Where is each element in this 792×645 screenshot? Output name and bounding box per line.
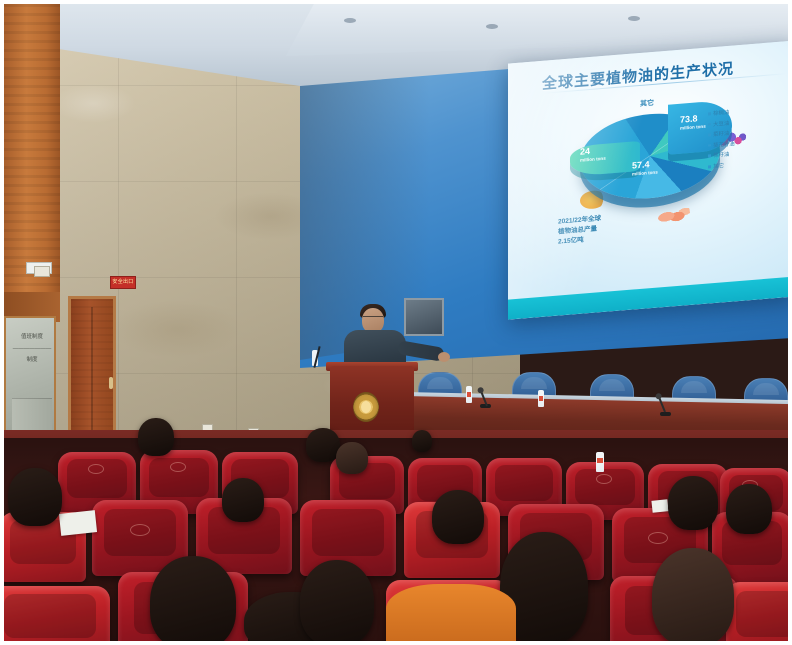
seat-number-emblem	[88, 464, 104, 474]
audience-head	[306, 428, 340, 462]
side-door	[68, 296, 116, 448]
audience-shoulder	[386, 584, 516, 645]
podium-emblem	[353, 392, 379, 422]
slide-legend: 棕榈油 大豆油 菜籽油 葵花籽油 棉籽油 其它	[708, 104, 780, 173]
seat-number-emblem	[648, 532, 668, 544]
legend-dot-icon	[708, 144, 711, 147]
screen-glare	[508, 40, 688, 319]
ceiling-light-icon	[628, 16, 640, 21]
audience-head	[8, 468, 62, 526]
handout-paper	[651, 499, 668, 513]
audience-head	[336, 442, 368, 474]
water-bottle	[466, 386, 472, 403]
speaker-hand	[438, 352, 450, 362]
audience-head	[412, 430, 432, 452]
legend-dot-icon	[708, 165, 711, 168]
water-bottle	[596, 452, 604, 472]
door-handle	[109, 377, 113, 389]
notice-board: 值班制度 ——————— 制度	[4, 316, 56, 444]
audience-head	[432, 490, 484, 544]
handout-paper	[59, 510, 97, 536]
microphone-base	[660, 412, 671, 416]
door-panel-line	[91, 307, 93, 443]
audience-head	[726, 484, 772, 534]
ceiling-light-icon	[486, 24, 498, 29]
audience-head	[138, 418, 174, 456]
wood-column	[4, 4, 60, 294]
speaker-glasses-icon	[363, 316, 383, 321]
audience-head	[300, 560, 374, 645]
wall-display-panel	[404, 298, 444, 336]
projection-screen: 全球主要植物油的生产状况 其它 73.8 million tons 57.4 m…	[508, 40, 792, 319]
conference-hall-photo: 全球主要植物油的生产状况 其它 73.8 million tons 57.4 m…	[0, 0, 792, 645]
audience-head	[652, 548, 734, 645]
water-bottle	[538, 390, 544, 407]
seat-number-emblem	[596, 474, 612, 484]
legend-dot-icon	[708, 155, 711, 158]
seat-number-emblem	[170, 462, 186, 472]
exit-sign: 安全出口	[110, 276, 136, 289]
audience-seat	[0, 586, 110, 645]
seat-number-emblem	[130, 524, 150, 536]
legend-dot-icon	[708, 123, 711, 126]
audience-head	[222, 478, 264, 522]
ceiling-light-icon	[344, 18, 356, 23]
notice-board-text: 值班制度 ——————— 制度	[12, 332, 52, 367]
audience-seat	[726, 582, 792, 645]
legend-dot-icon	[708, 134, 711, 137]
legend-dot-icon	[708, 113, 711, 116]
wall-outlet	[34, 266, 50, 277]
audience-head	[150, 556, 236, 645]
audience-head	[668, 476, 718, 530]
